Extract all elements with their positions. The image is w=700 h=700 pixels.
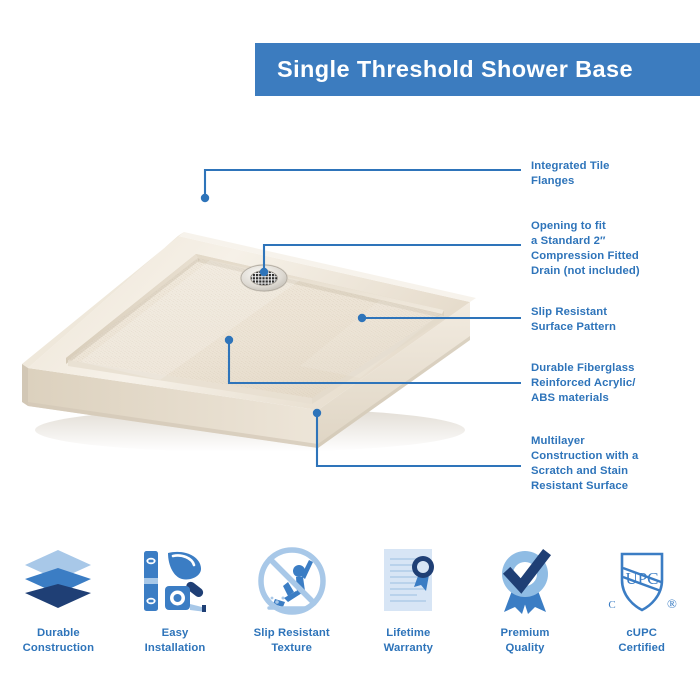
callout-slip-resistant-surface: Slip Resistant Surface Pattern — [531, 305, 616, 335]
upc-shield-icon: UPC C ® — [605, 540, 679, 622]
award-check-icon — [488, 540, 562, 622]
page-title-banner: Single Threshold Shower Base — [255, 43, 700, 96]
callout-multilayer-construction: Multilayer Construction with a Scratch a… — [531, 434, 638, 494]
callout-fiberglass-materials: Durable Fiberglass Reinforced Acrylic/ A… — [531, 361, 635, 406]
callout-drain-opening: Opening to fit a Standard 2″ Compression… — [531, 219, 640, 279]
feature-lifetime-warranty: Lifetime Warranty — [350, 540, 467, 690]
product-infographic: Single Threshold Shower Base — [0, 0, 700, 700]
certificate-icon — [371, 540, 445, 622]
feature-premium-quality: Premium Quality — [467, 540, 584, 690]
feature-durable-construction: Durable Construction — [0, 540, 117, 690]
feature-cupc-certified: UPC C ® cUPC Certified — [583, 540, 700, 690]
callout-integrated-tile-flanges: Integrated Tile Flanges — [531, 159, 610, 189]
no-slip-icon — [255, 540, 329, 622]
feature-label: Easy Installation — [145, 626, 206, 655]
tools-icon — [138, 540, 212, 622]
feature-label: Durable Construction — [23, 626, 95, 655]
feature-easy-installation: Easy Installation — [117, 540, 234, 690]
upc-prefix-text: C — [608, 599, 615, 611]
page-title: Single Threshold Shower Base — [277, 56, 633, 83]
feature-strip: Durable Construction — [0, 540, 700, 690]
feature-label: Lifetime Warranty — [384, 626, 433, 655]
feature-label: cUPC Certified — [618, 626, 665, 655]
feature-label: Slip Resistant Texture — [254, 626, 330, 655]
feature-label: Premium Quality — [501, 626, 550, 655]
feature-slip-resistant: Slip Resistant Texture — [233, 540, 350, 690]
upc-shield-text: UPC — [625, 569, 658, 588]
product-illustration — [0, 130, 520, 530]
layers-icon — [21, 540, 95, 622]
shower-drain — [240, 264, 288, 292]
upc-registered-mark: ® — [667, 596, 677, 611]
